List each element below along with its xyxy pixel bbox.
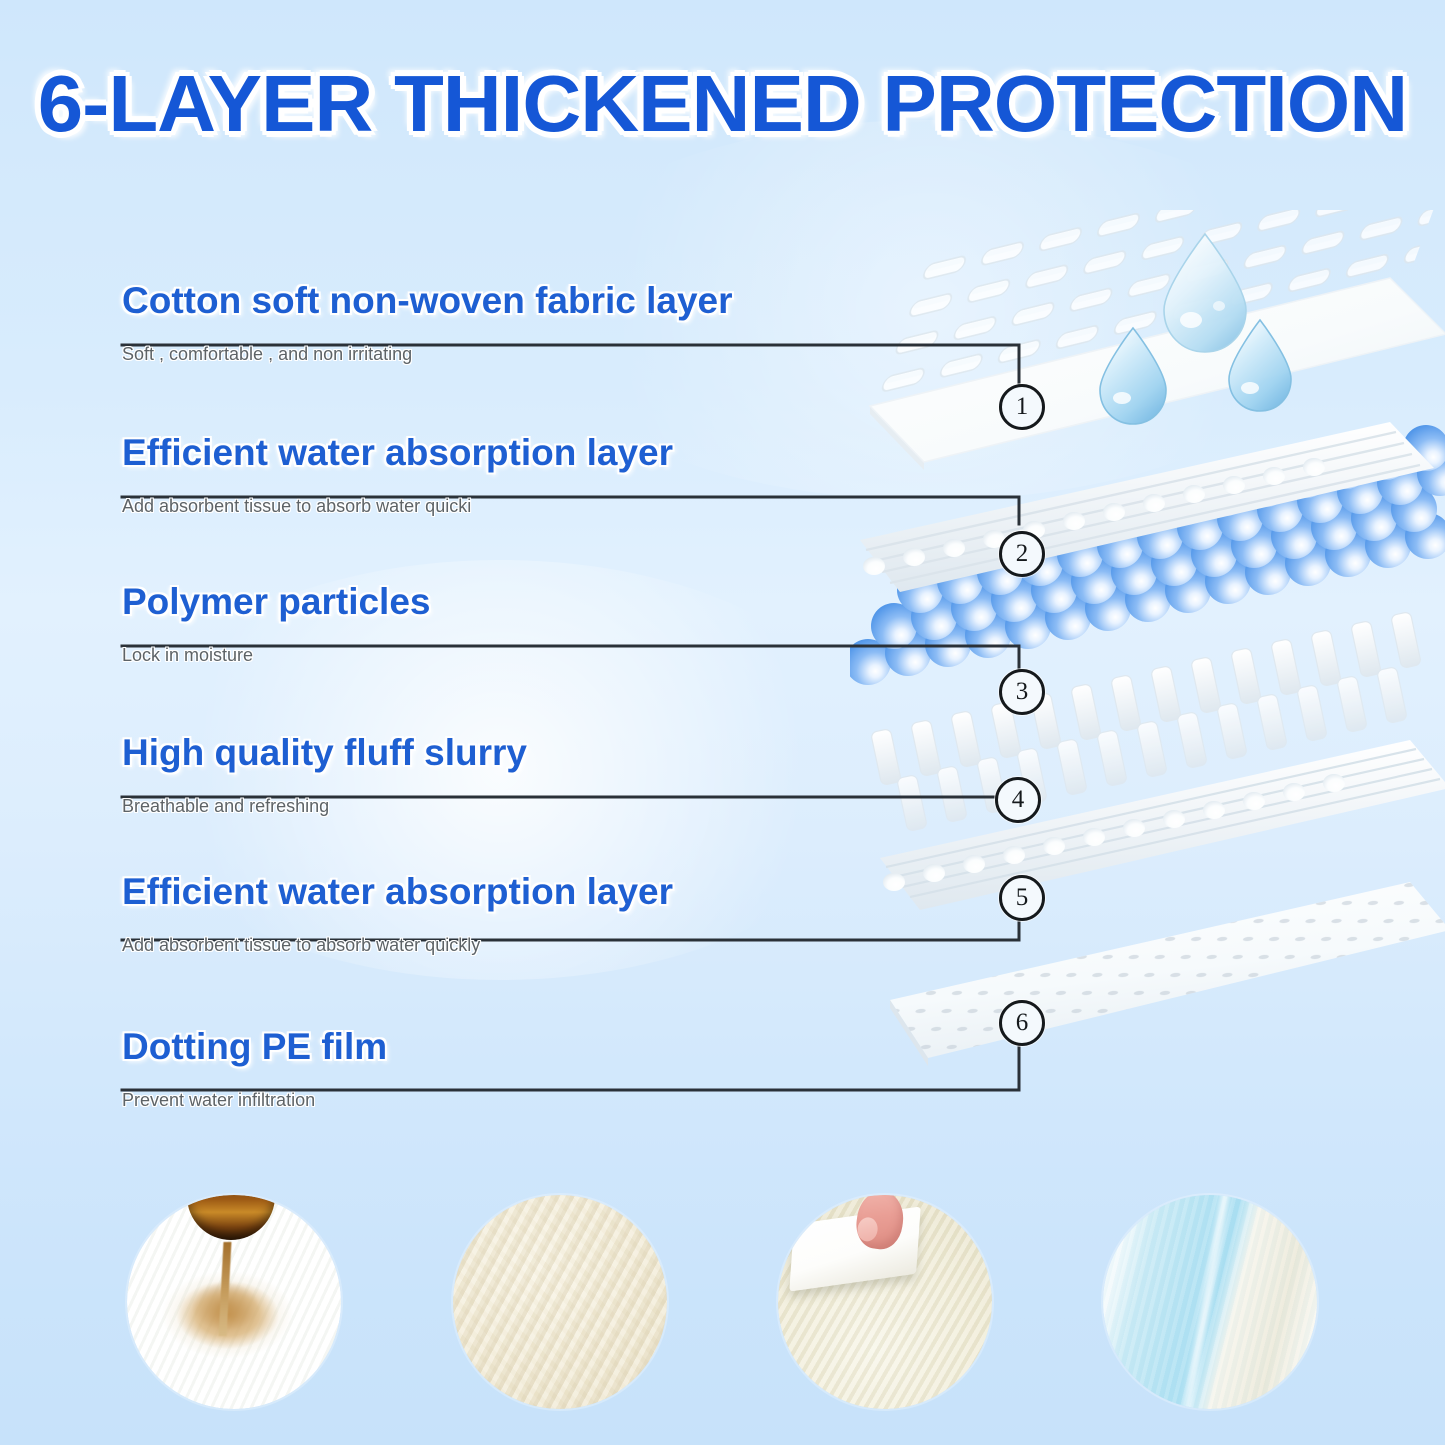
layer-stack-illustration [850, 210, 1445, 1190]
photo-3-dashed-ring [778, 1195, 992, 1409]
layer-badge-6: 6 [999, 1000, 1045, 1046]
layer-badge-5: 5 [999, 875, 1045, 921]
layer-title-1: Cotton soft non-woven fabric layer [122, 282, 733, 321]
pe-film-layer [890, 882, 1445, 1066]
layer-badge-4-label: 4 [1012, 786, 1025, 814]
layer-subtitle-2: Add absorbent tissue to absorb water qui… [122, 496, 673, 517]
layer-badge-2-label: 2 [1016, 540, 1029, 568]
layer-subtitle-3: Lock in moisture [122, 645, 430, 666]
layer-item-4: High quality fluff slurry Breathable and… [122, 734, 527, 817]
photo-blue-white-fabric-layers [1103, 1195, 1317, 1409]
photo-4-dashed-ring [1103, 1195, 1317, 1409]
layer-subtitle-4: Breathable and refreshing [122, 796, 527, 817]
layer-title-3: Polymer particles [122, 583, 430, 622]
layer-badge-1-label: 1 [1016, 393, 1029, 421]
layer-item-2: Efficient water absorption layer Add abs… [122, 434, 673, 517]
layer-subtitle-5: Add absorbent tissue to absorb water qui… [122, 935, 673, 956]
layer-item-1: Cotton soft non-woven fabric layer Soft … [122, 282, 733, 365]
photo-fluff-pulp-texture [453, 1195, 667, 1409]
photo-1-dashed-ring [127, 1195, 341, 1409]
layer-item-3: Polymer particles Lock in moisture [122, 583, 430, 666]
layer-badge-3-label: 3 [1016, 678, 1029, 706]
layer-badge-4: 4 [995, 777, 1041, 823]
layer-title-2: Efficient water absorption layer [122, 434, 673, 473]
layer-badge-2: 2 [999, 531, 1045, 577]
layer-title-6: Dotting PE film [122, 1028, 387, 1067]
layer-badge-3: 3 [999, 669, 1045, 715]
layer-title-5: Efficient water absorption layer [122, 873, 673, 912]
layer-title-4: High quality fluff slurry [122, 734, 527, 773]
layer-badge-1: 1 [999, 384, 1045, 430]
layer-item-6: Dotting PE film Prevent water infiltrati… [122, 1028, 387, 1111]
stack-svg [850, 210, 1445, 1190]
layer-subtitle-6: Prevent water infiltration [122, 1090, 387, 1111]
layer-badge-6-label: 6 [1016, 1009, 1029, 1037]
photo-finger-press-softness-test [778, 1195, 992, 1409]
infographic-canvas: 1 2 3 4 5 6 6-LAYER THICKENED PROTECTION… [0, 0, 1445, 1445]
photo-liquid-absorption-test [127, 1195, 341, 1409]
layer-badge-5-label: 5 [1016, 884, 1029, 912]
layer-subtitle-1: Soft , comfortable , and non irritating [122, 344, 733, 365]
layer-item-5: Efficient water absorption layer Add abs… [122, 873, 673, 956]
photo-2-dashed-ring [453, 1195, 667, 1409]
page-title: 6-LAYER THICKENED PROTECTION [0, 58, 1445, 150]
